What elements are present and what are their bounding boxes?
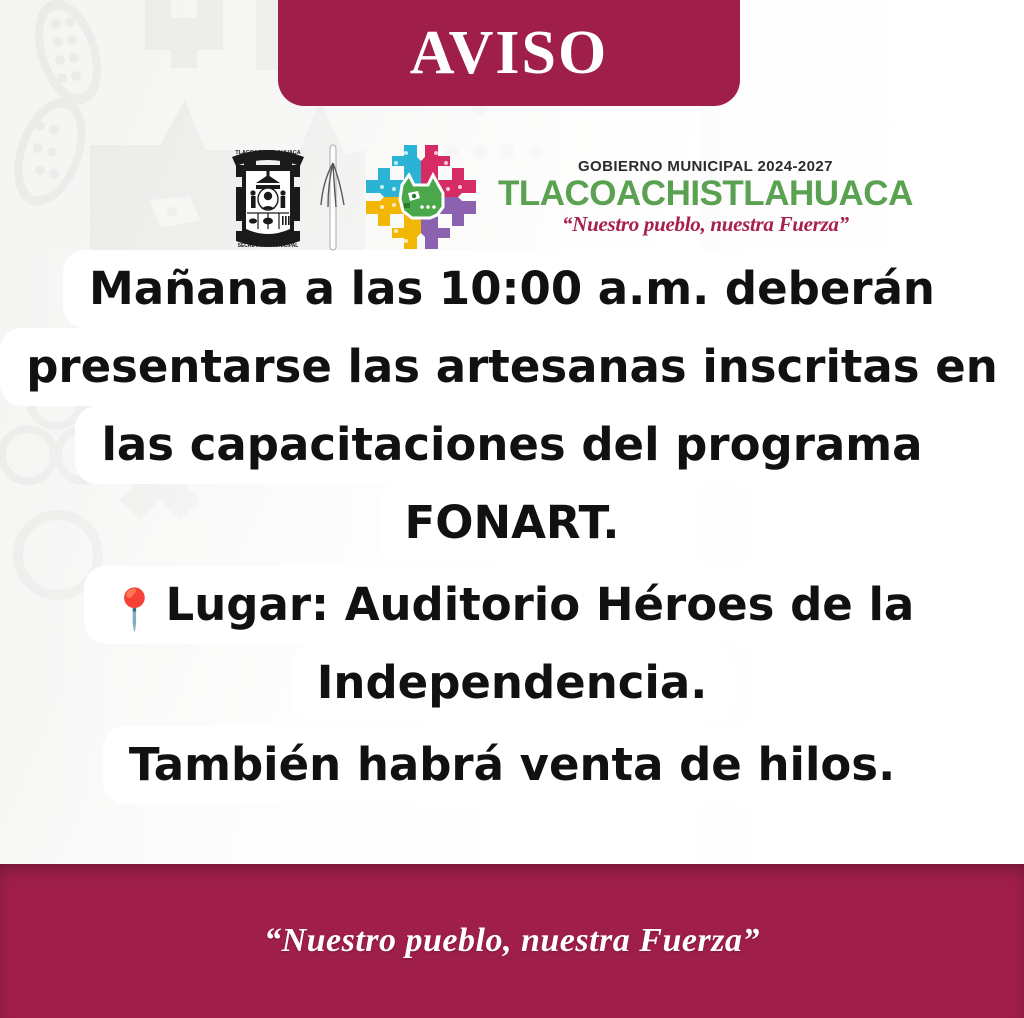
wordmark-line-municipality: TLACOACHISTLAHUACA [498,176,913,211]
message-line-text: presentarse las artesanas inscritas en [26,340,998,393]
message-line-text: También habrá venta de hilos. [129,738,895,791]
message-line: Mañana a las 10:00 a.m. deberán [63,250,961,328]
message-body: Mañana a las 10:00 a.m. deberán presenta… [0,250,1024,804]
message-line-text: Lugar: Auditorio Héroes de la [166,578,915,631]
spindle-thread-icon [316,141,352,253]
message-line-text: Independencia. [317,656,708,709]
logo-strip: TLACOACHISTLAHUACA [222,138,822,256]
wordmark-line-government: GOBIERNO MUNICIPAL 2024-2027 [578,159,833,174]
message-line: También habrá venta de hilos. [103,726,921,804]
footer-band: “Nuestro pueblo, nuestra Fuerza” [0,864,1024,1018]
municipal-wordmark: GOBIERNO MUNICIPAL 2024-2027 TLACOACHIST… [498,159,913,235]
content-card: Mañana a las 10:00 a.m. deberán presenta… [0,250,1024,865]
coat-of-arms-icon: TLACOACHISTLAHUACA [222,141,314,253]
message-line-location: 📍Lugar: Auditorio Héroes de la [84,566,941,644]
message-line: Independencia. [291,644,734,722]
aviso-banner: AVISO [278,0,740,106]
message-line-text: FONART. [404,496,619,549]
footer-slogan: “Nuestro pueblo, nuestra Fuerza” [264,922,760,960]
message-line-text: las capacitaciones del programa [101,418,922,471]
message-line: presentarse las artesanas inscritas en [0,328,1024,406]
poster-canvas: AVISO TLACOACHISTLAHUACA [0,0,1024,1018]
four-petal-star-logo [360,139,482,255]
svg-text:SECRETARIA MUNICIPAL: SECRETARIA MUNICIPAL [238,243,299,249]
message-line: FONART. [378,484,645,562]
svg-text:TLACOACHISTLAHUACA: TLACOACHISTLAHUACA [235,150,300,156]
message-line: las capacitaciones del programa [75,406,948,484]
banner-title: AVISO [410,16,608,84]
location-pin-icon: 📍 [110,587,160,633]
message-line-text: Mañana a las 10:00 a.m. deberán [89,262,935,315]
wordmark-line-slogan: “Nuestro pueblo, nuestra Fuerza” [562,214,849,235]
